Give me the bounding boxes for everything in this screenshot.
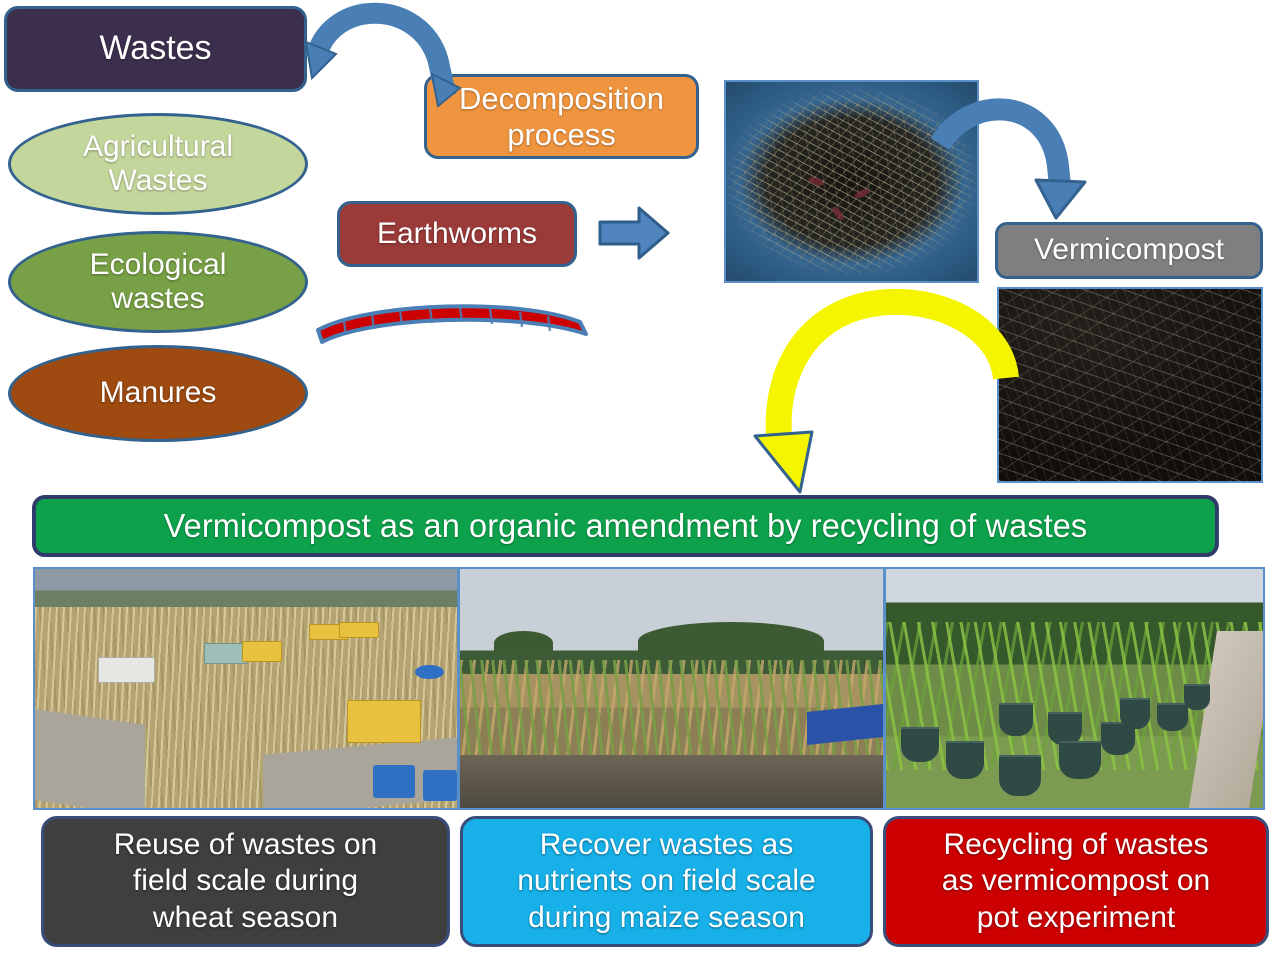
label-recycling-pot: Recycling of wastes as vermicompost on p… (883, 816, 1269, 947)
line-3: during maize season (528, 901, 805, 934)
background-hill (638, 622, 824, 660)
node-wastes: Wastes (4, 6, 307, 92)
line-1: Agricultural (83, 130, 233, 163)
wheat-field-photo (33, 567, 459, 810)
blue-bucket (423, 770, 457, 801)
plot-base (460, 755, 883, 808)
line-1: Ecological (90, 248, 227, 281)
node-earthworms-label: Earthworms (377, 217, 537, 252)
lysimeter-box (98, 657, 155, 683)
line-3: pot experiment (977, 901, 1175, 934)
line-2: process (507, 117, 616, 152)
lysimeter-box (339, 622, 379, 638)
node-vermicompost: Vermicompost (995, 222, 1263, 279)
node-ecological-wastes-label: Ecological wastes (90, 248, 227, 317)
blue-bucket (415, 665, 445, 679)
node-wastes-label: Wastes (99, 29, 211, 68)
summary-banner-text: Vermicompost as an organic amendment by … (164, 507, 1088, 545)
lysimeter-box (242, 641, 282, 662)
background-hill (494, 631, 553, 655)
earthworm-icon (318, 306, 586, 342)
vermicompost-closeup-photo (997, 287, 1263, 483)
pot-experiment-photo (884, 567, 1265, 810)
line-2: nutrients on field scale (517, 864, 816, 897)
graphical-abstract: Wastes Agricultural Wastes Ecological wa… (0, 0, 1269, 953)
plant-pot (1184, 684, 1210, 710)
summary-banner: Vermicompost as an organic amendment by … (32, 495, 1219, 557)
plant-pot (1120, 698, 1150, 729)
node-vermicompost-label: Vermicompost (1034, 233, 1224, 268)
line-1: Recover wastes as (540, 828, 793, 861)
label-recover-maize: Recover wastes as nutrients on field sca… (460, 816, 873, 947)
plant-pot (1157, 703, 1187, 731)
line-1: Decomposition (459, 81, 664, 116)
label-reuse-wheat-text: Reuse of wastes on field scale during wh… (114, 827, 377, 937)
compost-bin-photo (724, 80, 979, 283)
plant-pot (901, 727, 939, 762)
line-1: Recycling of wastes (943, 828, 1208, 861)
fiber-texture (999, 289, 1261, 481)
label-recycling-pot-text: Recycling of wastes as vermicompost on p… (942, 827, 1210, 937)
node-decomposition-process: Decomposition process (424, 74, 699, 159)
node-ecological-wastes: Ecological wastes (8, 231, 308, 333)
node-earthworms: Earthworms (337, 201, 577, 267)
maize-field-photo (458, 567, 885, 810)
line-2: Wastes (109, 164, 208, 197)
blue-bucket (373, 765, 415, 798)
node-agricultural-wastes-label: Agricultural Wastes (83, 130, 233, 199)
curved-arrow-icon (755, 302, 1006, 492)
plant-pot (946, 741, 984, 779)
line-2: as vermicompost on (942, 864, 1210, 897)
node-agricultural-wastes: Agricultural Wastes (8, 113, 308, 215)
line-2: field scale during (133, 864, 358, 897)
lysimeter-box (347, 700, 421, 743)
line-1: Reuse of wastes on (114, 828, 377, 861)
label-reuse-wheat: Reuse of wastes on field scale during wh… (41, 816, 450, 947)
plant-pot (1059, 741, 1100, 779)
label-recover-maize-text: Recover wastes as nutrients on field sca… (517, 827, 816, 937)
line-3: wheat season (153, 901, 338, 934)
concrete-slab (35, 709, 145, 810)
plant-pot (999, 755, 1040, 795)
node-manures-label: Manures (100, 376, 217, 411)
line-2: wastes (111, 282, 204, 315)
node-manures: Manures (8, 345, 308, 442)
straw-texture (726, 82, 977, 281)
right-arrow-icon (600, 208, 668, 258)
plant-pot (999, 703, 1033, 736)
node-decomposition-label: Decomposition process (459, 81, 664, 152)
